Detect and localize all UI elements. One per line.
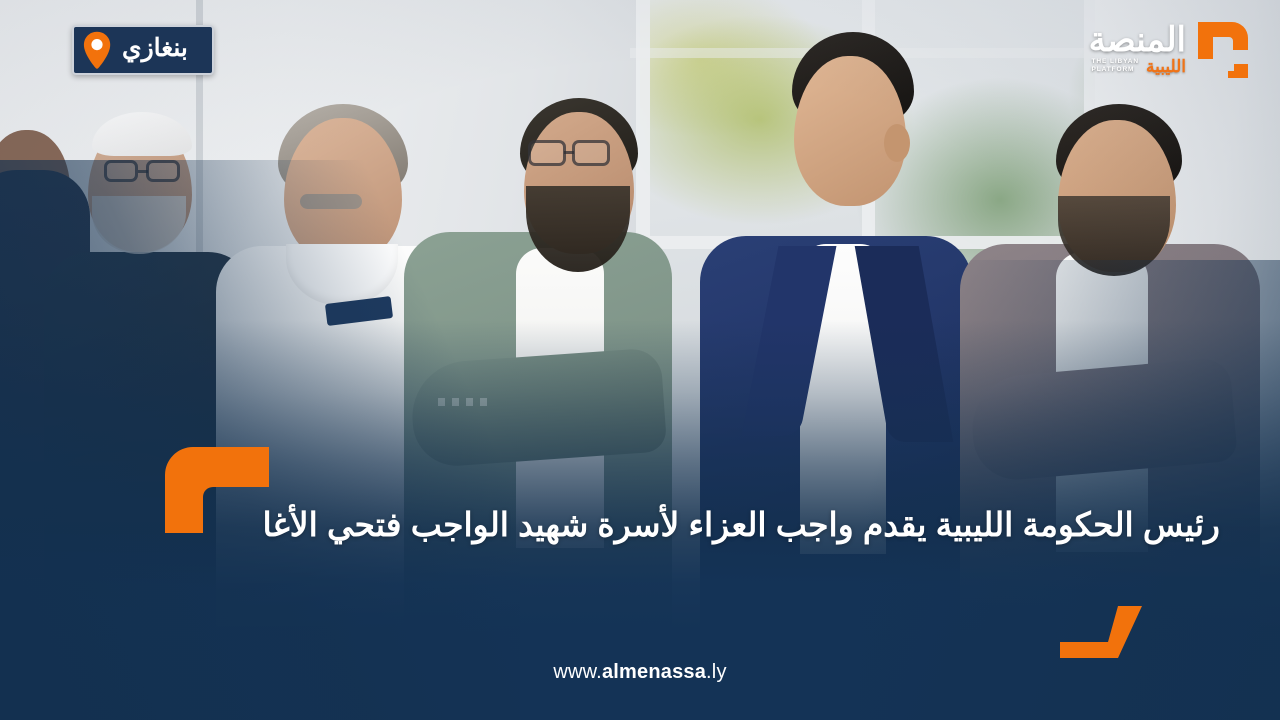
logo-english-line2: PLATFORM <box>1092 66 1139 74</box>
site-url-suffix: .ly <box>706 661 727 683</box>
site-logo[interactable]: المنصة THE LIBYAN PLATFORM الليبية <box>1040 14 1254 92</box>
site-url[interactable]: www.almenassa.ly <box>0 662 1280 682</box>
location-pin-icon <box>82 31 112 69</box>
logo-arabic-main: المنصة <box>1089 24 1186 57</box>
eyeglasses-icon <box>104 160 138 182</box>
news-graphic-card: بنغازي المنصة THE LIBYAN PLATFORM الليبي… <box>0 0 1280 720</box>
logo-arabic-sub: الليبية <box>1146 58 1186 75</box>
logo-text-block: المنصة THE LIBYAN PLATFORM الليبية <box>1089 14 1186 75</box>
eyeglasses-icon <box>146 160 180 182</box>
logo-hook-mark-icon <box>1192 16 1254 84</box>
logo-english-block: THE LIBYAN PLATFORM <box>1092 58 1139 74</box>
logo-sub-row: THE LIBYAN PLATFORM الليبية <box>1089 58 1186 75</box>
site-url-prefix: www. <box>553 661 602 683</box>
headline-line-1: رئيس الحكومة الليبية يقدم واجب العزاء لأ… <box>411 506 1220 543</box>
eyeglasses-icon <box>528 140 566 166</box>
headline: رئيس الحكومة الليبية يقدم واجب العزاء لأ… <box>160 500 1220 550</box>
site-url-main: almenassa <box>602 661 706 683</box>
logo-english-line1: THE LIBYAN <box>1092 58 1139 66</box>
eyeglasses-icon <box>572 140 610 166</box>
headline-close-bracket-icon <box>1060 606 1142 658</box>
headline-line-2: فتحي الأغا <box>263 506 402 543</box>
location-badge: بنغازي <box>72 25 214 75</box>
location-badge-label: بنغازي <box>122 36 188 65</box>
